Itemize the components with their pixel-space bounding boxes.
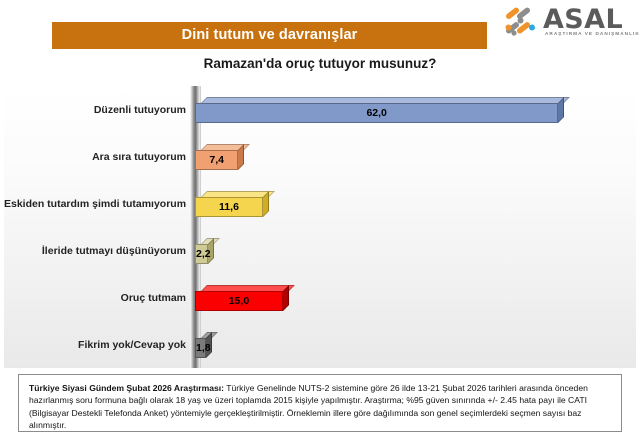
bar-row: Fikrim yok/Cevap yok1,8 <box>4 321 636 368</box>
bar-value-label: 1,8 <box>196 338 219 358</box>
bar-row: İleride tutmayı düşünüyorum2,2 <box>4 227 636 274</box>
bar-3d[interactable]: 7,4 <box>195 144 244 170</box>
bar-category-label: İleride tutmayı düşünüyorum <box>4 245 186 257</box>
bar-value-label: 11,6 <box>195 197 263 217</box>
bar-3d[interactable]: 1,8 <box>195 332 212 358</box>
bar-category-label: Eskiden tutardım şimdi tutamıyorum <box>4 198 186 210</box>
bar-value-label: 15,0 <box>195 291 283 311</box>
bar-3d[interactable]: 11,6 <box>195 191 269 217</box>
bar-value-label: 62,0 <box>195 103 558 123</box>
bar-row: Ara sıra tutuyorum7,4 <box>4 133 636 180</box>
bar-row: Eskiden tutardım şimdi tutamıyorum11,6 <box>4 180 636 227</box>
bar-3d[interactable]: 62,0 <box>195 97 564 123</box>
bar-category-label: Oruç tutmam <box>4 292 186 304</box>
asal-logo-tagline: ARAŞTIRMA VE DANIŞMANLIK <box>545 31 640 36</box>
bar-row: Düzenli tutuyorum62,0 <box>4 86 636 133</box>
bar-value-label: 7,4 <box>195 150 238 170</box>
chart-question-title: Ramazan'da oruç tutuyor musunuz? <box>0 56 640 71</box>
section-title: Dini tutum ve davranışlar <box>52 22 487 49</box>
methodology-lead: Türkiye Siyasi Gündem Şubat 2026 Araştır… <box>29 383 224 393</box>
bar-category-label: Düzenli tutuyorum <box>4 104 186 116</box>
bar-3d[interactable]: 2,2 <box>195 238 214 264</box>
asal-logo-mark-icon <box>503 7 541 37</box>
methodology-text: Türkiye Siyasi Gündem Şubat 2026 Araştır… <box>29 382 611 432</box>
bar-row: Oruç tutmam15,0 <box>4 274 636 321</box>
asal-logo: ASAL ARAŞTIRMA VE DANIŞMANLIK <box>503 6 635 42</box>
bar-side-face <box>263 191 269 217</box>
bar-side-face <box>558 97 564 123</box>
bar-category-label: Fikrim yok/Cevap yok <box>4 339 186 351</box>
bar-chart: Düzenli tutuyorum62,0Ara sıra tutuyorum7… <box>4 86 636 368</box>
bar-side-face <box>238 144 244 170</box>
bar-3d[interactable]: 15,0 <box>195 285 289 311</box>
methodology-footnote: Türkiye Siyasi Gündem Şubat 2026 Araştır… <box>18 374 622 432</box>
bar-value-label: 2,2 <box>196 244 221 264</box>
section-header-band: Dini tutum ve davranışlar <box>52 22 487 49</box>
bar-side-face <box>283 285 289 311</box>
bar-category-label: Ara sıra tutuyorum <box>4 151 186 163</box>
